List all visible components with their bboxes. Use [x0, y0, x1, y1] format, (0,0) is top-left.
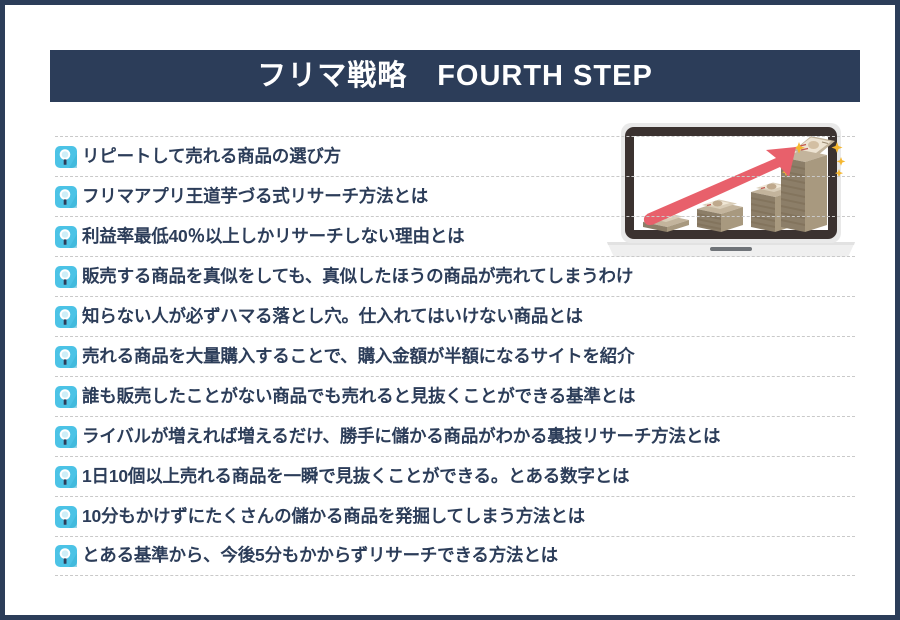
page-title: フリマ戦略 FOURTH STEP: [257, 62, 653, 91]
list-item-label: フリマアプリ王道芋づる式リサーチ方法とは: [82, 188, 428, 206]
list-item[interactable]: リピートして売れる商品の選び方: [55, 136, 855, 176]
list-item[interactable]: 利益率最低40％以上しかリサーチしない理由とは: [55, 216, 855, 256]
list-item[interactable]: 1日10個以上売れる商品を一瞬で見抜くことができる。とある数字とは: [55, 456, 855, 496]
list-item[interactable]: フリマアプリ王道芋づる式リサーチ方法とは: [55, 176, 855, 216]
magnifier-icon: [55, 426, 77, 448]
list-item-label: 1日10個以上売れる商品を一瞬で見抜くことができる。とある数字とは: [82, 468, 629, 486]
magnifier-icon: [55, 306, 77, 328]
list-item[interactable]: 知らない人が必ずハマる落とし穴。仕入れてはいけない商品とは: [55, 296, 855, 336]
list-item-label: 利益率最低40％以上しかリサーチしない理由とは: [82, 228, 464, 246]
list-item[interactable]: 誰も販売したことがない商品でも売れると見抜くことができる基準とは: [55, 376, 855, 416]
list-item[interactable]: とある基準から、今後5分もかからずリサーチできる方法とは: [55, 536, 855, 576]
list-item-label: とある基準から、今後5分もかからずリサーチできる方法とは: [82, 547, 558, 565]
list-item-label: 誰も販売したことがない商品でも売れると見抜くことができる基準とは: [82, 388, 635, 406]
magnifier-icon: [55, 386, 77, 408]
header-bar: フリマ戦略 FOURTH STEP: [50, 50, 860, 102]
list-item-label: 知らない人が必ずハマる落とし穴。仕入れてはいけない商品とは: [82, 308, 583, 326]
list-item[interactable]: ライバルが増えれば増えるだけ、勝手に儲かる商品がわかる裏技リサーチ方法とは: [55, 416, 855, 456]
checklist: リピートして売れる商品の選び方 フリマアプリ王道芋づる式リサーチ方法とは 利益率…: [55, 136, 855, 576]
magnifier-icon: [55, 346, 77, 368]
magnifier-icon: [55, 506, 77, 528]
magnifier-icon: [55, 146, 77, 168]
list-item-label: ライバルが増えれば増えるだけ、勝手に儲かる商品がわかる裏技リサーチ方法とは: [82, 428, 720, 446]
magnifier-icon: [55, 466, 77, 488]
list-item[interactable]: 販売する商品を真似をしても、真似したほうの商品が売れてしまうわけ: [55, 256, 855, 296]
magnifier-icon: [55, 226, 77, 248]
magnifier-icon: [55, 545, 77, 567]
list-item[interactable]: 10分もかけずにたくさんの儲かる商品を発掘してしまう方法とは: [55, 496, 855, 536]
list-item[interactable]: 売れる商品を大量購入することで、購入金額が半額になるサイトを紹介: [55, 336, 855, 376]
magnifier-icon: [55, 186, 77, 208]
slide-page: フリマ戦略 FOURTH STEP: [0, 0, 900, 620]
list-item-label: リピートして売れる商品の選び方: [82, 148, 341, 166]
list-item-label: 10分もかけずにたくさんの儲かる商品を発掘してしまう方法とは: [82, 508, 585, 526]
magnifier-icon: [55, 266, 77, 288]
list-item-label: 販売する商品を真似をしても、真似したほうの商品が売れてしまうわけ: [82, 268, 633, 286]
list-item-label: 売れる商品を大量購入することで、購入金額が半額になるサイトを紹介: [82, 348, 634, 366]
